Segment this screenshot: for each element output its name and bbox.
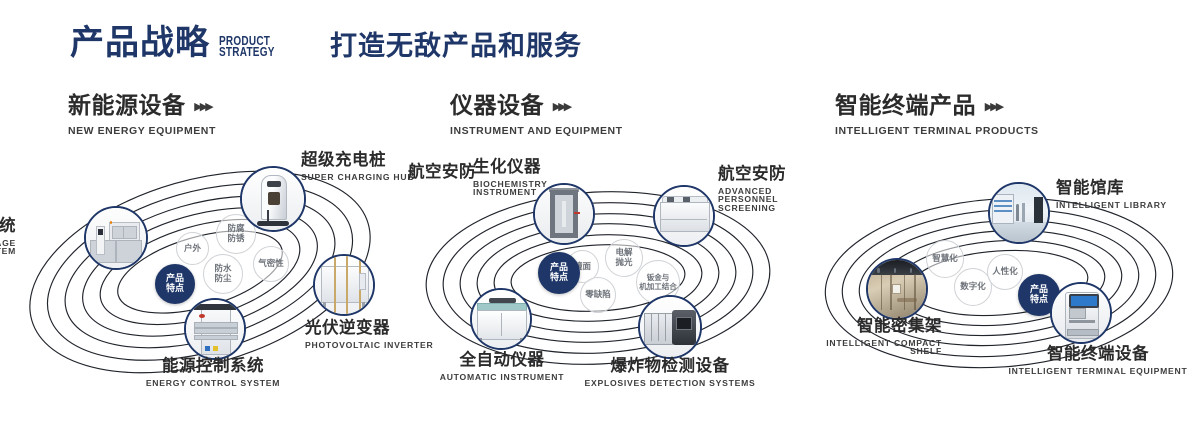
library-room-icon: [990, 184, 1048, 242]
pv-inverter-cabinet-icon: [315, 256, 373, 314]
caption-automatic-instrument: 全自动仪器 AUTOMATIC INSTRUMENT: [422, 352, 582, 381]
caption-cn: 能源控制系统: [88, 358, 338, 375]
section-title-instrument-and-equipment: 仪器设备 ▸▸▸ INSTRUMENT AND EQUIPMENT: [450, 95, 623, 137]
feature-bubble-line: 智慧化: [932, 254, 958, 264]
section-title-cn: 智能终端产品 ▸▸▸: [835, 95, 1039, 118]
section-title-en: INSTRUMENT AND EQUIPMENT: [450, 125, 623, 137]
caption-cn: 爆炸物检测设备: [574, 358, 766, 375]
caption-cn: 航空安防: [408, 164, 476, 181]
section-title-text: 新能源设备: [68, 95, 186, 118]
feature-bubble-line: 数字化: [960, 282, 986, 292]
section-title-cn: 新能源设备 ▸▸▸: [68, 95, 216, 118]
feature-bubble-line: 气密性: [258, 259, 284, 269]
caption-en: INTELLIGENT COMPACT SHELF: [822, 339, 942, 356]
caption-en: INTELLIGENT TERMINAL EQUIPMENT: [998, 367, 1198, 376]
control-cabinet-icon: [186, 300, 244, 358]
center-bubble-line: 特点: [550, 273, 568, 284]
feature-bubble-line: 钣金与: [647, 273, 670, 282]
center-bubble-line: 产品: [550, 263, 568, 274]
walkthrough-scanner-icon: [535, 185, 593, 243]
caption-en: INTELLIGENT LIBRARY: [1056, 201, 1167, 210]
chevron-right-icon: ▸▸▸: [195, 99, 212, 114]
section-title-intelligent-terminal-products: 智能终端产品 ▸▸▸ INTELLIGENT TERMINAL PRODUCTS: [835, 95, 1039, 137]
center-bubble-line: 产品: [166, 274, 184, 285]
charging-pile-icon: [242, 168, 304, 230]
feature-bubble-line: 抛光: [615, 258, 632, 268]
caption-en: ENERGY CONTROL SYSTEM: [88, 379, 338, 388]
feature-bubble-airtightness: 气密性: [253, 246, 289, 282]
page-title-cn: 产品战略: [70, 26, 210, 60]
node-energy-control-system[interactable]: [184, 298, 246, 360]
caption-intelligent-library: 智能馆库 INTELLIGENT LIBRARY: [1056, 180, 1167, 209]
feature-bubble-line: 电解: [615, 248, 632, 258]
cluster-new-energy-equipment: 户外 防腐 防锈 防水 防尘 气密性 产品 特点 储能系统 ENERGY STO…: [0, 150, 400, 405]
page-subtitle: 打造无敌产品和服务: [330, 33, 582, 60]
energy-storage-cabinet-icon: [86, 208, 146, 268]
page-title-en-line2: STRATEGY: [219, 47, 275, 58]
caption-intelligent-compact-shelf: 智能密集架 INTELLIGENT COMPACT SHELF: [822, 318, 942, 356]
node-automatic-instrument[interactable]: [470, 288, 532, 350]
feature-bubble-line: 防锈: [227, 234, 244, 244]
caption-explosives-detection-systems: 爆炸物检测设备 EXPLOSIVES DETECTION SYSTEMS: [574, 358, 766, 387]
node-intelligent-compact-shelf[interactable]: [866, 258, 928, 320]
explosives-detector-icon: [640, 297, 700, 357]
node-intelligent-terminal-equipment[interactable]: [1050, 282, 1112, 344]
feature-bubble-line: 机加工结合: [639, 282, 677, 291]
caption-aviation-security-left: 航空安防: [408, 164, 476, 181]
feature-bubble-humanized: 人性化: [987, 254, 1023, 290]
node-energy-storage-system[interactable]: [84, 206, 148, 270]
caption-en: ENERGY STORAGE SYSTEM: [0, 239, 16, 256]
self-service-kiosk-icon: [1052, 284, 1110, 342]
feature-bubble-waterproof-dustproof: 防水 防尘: [203, 254, 243, 294]
feature-bubble-line: 防水: [214, 264, 231, 274]
center-bubble-line: 特点: [166, 284, 184, 295]
cluster-instrument-and-equipment: 镜面 电解 抛光 零缺陷 钣金与 机加工结合 产品 特点 航空安防 生化仪器: [398, 160, 798, 400]
feature-bubble-line: 人性化: [992, 267, 1018, 277]
caption-en: AUTOMATIC INSTRUMENT: [422, 373, 582, 382]
node-super-charging-hub[interactable]: [240, 166, 306, 232]
caption-energy-control-system: 能源控制系统 ENERGY CONTROL SYSTEM: [88, 358, 338, 387]
compact-shelving-icon: [868, 260, 926, 318]
section-title-cn: 仪器设备 ▸▸▸: [450, 95, 623, 118]
caption-en: BIOCHEMISTRY INSTRUMENT: [473, 180, 531, 197]
cluster-intelligent-terminal-products: 智慧化 数字化 人性化 产品 特点 智能馆库 INTELLIGENT LIBRA…: [798, 170, 1200, 402]
feature-bubble-line: 防尘: [214, 274, 231, 284]
feature-bubble-zero-defect: 零缺陷: [580, 277, 616, 313]
caption-en: EXPLOSIVES DETECTION SYSTEMS: [574, 379, 766, 388]
caption-biochemistry-instrument: 生化仪器 BIOCHEMISTRY INSTRUMENT: [473, 159, 533, 197]
caption-intelligent-terminal-equipment: 智能终端设备 INTELLIGENT TERMINAL EQUIPMENT: [998, 346, 1198, 375]
section-title-en: INTELLIGENT TERMINAL PRODUCTS: [835, 125, 1039, 137]
center-bubble-line: 特点: [1030, 295, 1048, 306]
screening-machine-icon: [655, 187, 713, 245]
section-title-en: NEW ENERGY EQUIPMENT: [68, 125, 216, 137]
caption-cn: 智能馆库: [1056, 180, 1167, 197]
caption-cn: 智能密集架: [822, 318, 942, 335]
node-advanced-personnel-screening[interactable]: [653, 185, 715, 247]
caption-cn: 生化仪器: [473, 159, 533, 176]
node-photovoltaic-inverter[interactable]: [313, 254, 375, 316]
section-title-text: 仪器设备: [450, 95, 544, 118]
center-bubble-product-features: 产品 特点: [538, 252, 580, 294]
feature-bubble-line: 户外: [184, 244, 201, 254]
page-title: 产品战略 PRODUCT STRATEGY: [70, 26, 289, 60]
section-title-text: 智能终端产品: [835, 95, 976, 118]
caption-cn: 储能系统: [0, 218, 16, 235]
node-biochemistry-instrument[interactable]: [533, 183, 595, 245]
center-bubble-line: 产品: [1030, 285, 1048, 296]
caption-cn: 全自动仪器: [422, 352, 582, 369]
chevron-right-icon: ▸▸▸: [553, 99, 570, 114]
node-explosives-detection-systems[interactable]: [638, 295, 702, 359]
node-intelligent-library[interactable]: [988, 182, 1050, 244]
center-bubble-product-features: 产品 特点: [155, 264, 195, 304]
chevron-right-icon: ▸▸▸: [985, 99, 1002, 114]
feature-bubble-outdoor: 户外: [176, 232, 209, 265]
automatic-analyzer-icon: [472, 290, 530, 348]
feature-bubble-smart: 智慧化: [926, 240, 964, 278]
caption-cn: 智能终端设备: [998, 346, 1198, 363]
page-title-en: PRODUCT STRATEGY: [219, 36, 275, 58]
caption-energy-storage-system: 储能系统 ENERGY STORAGE SYSTEM: [0, 218, 16, 256]
section-title-new-energy-equipment: 新能源设备 ▸▸▸ NEW ENERGY EQUIPMENT: [68, 95, 216, 137]
feature-bubble-line: 零缺陷: [585, 290, 611, 300]
product-strategy-infographic: 产品战略 PRODUCT STRATEGY 打造无敌产品和服务 新能源设备 ▸▸…: [0, 0, 1200, 422]
